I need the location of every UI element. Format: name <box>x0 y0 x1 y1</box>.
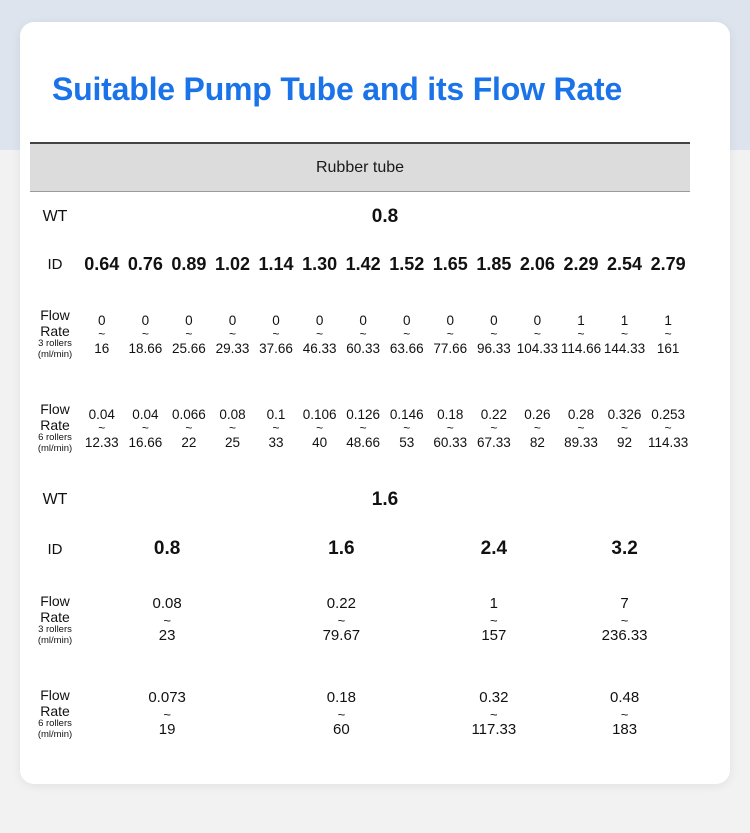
spec-card: Suitable Pump Tube and its Flow Rate Rub… <box>20 22 730 784</box>
range-separator: ~ <box>255 709 427 721</box>
range-separator: ~ <box>81 709 253 721</box>
table-flow-6rollers-row: FlowRate6 rollers(ml/min)0.04~12.330.04~… <box>30 381 690 475</box>
flow-label-line1: Flow <box>34 402 76 418</box>
id-value: 1.85 <box>472 241 516 287</box>
flow-6rollers-value: 0.073~19 <box>80 667 254 761</box>
id-value: 2.06 <box>516 241 560 287</box>
id-value: 0.64 <box>80 241 124 287</box>
id-value: 1.02 <box>211 241 255 287</box>
id-value: 1.6 <box>254 525 428 573</box>
flow-6rollers-value: 0.106~40 <box>298 381 342 475</box>
id-value: 3.2 <box>559 525 690 573</box>
range-separator: ~ <box>560 709 689 721</box>
wt-row-label: WT <box>30 475 80 525</box>
table-wt-row: WT1.6 <box>30 475 690 525</box>
range-separator: ~ <box>125 423 167 434</box>
id-value: 1.14 <box>254 241 298 287</box>
range-separator: ~ <box>168 423 210 434</box>
range-separator: ~ <box>255 329 297 340</box>
id-row-label: ID <box>30 525 80 573</box>
range-separator: ~ <box>212 423 254 434</box>
group-header-rubber-tube: Rubber tube <box>30 143 690 191</box>
flow-3rollers-value: 0~29.33 <box>211 287 255 381</box>
flow-3rollers-label: FlowRate3 rollers(ml/min) <box>30 573 80 667</box>
range-separator: ~ <box>560 615 689 627</box>
flow-6rollers-value: 0.28~89.33 <box>559 381 603 475</box>
flow-6rollers-value: 0.08~25 <box>211 381 255 475</box>
range-separator: ~ <box>386 329 428 340</box>
table-id-row: ID0.640.760.891.021.141.301.421.521.651.… <box>30 241 690 287</box>
flow-6rollers-value: 0.253~114.33 <box>646 381 690 475</box>
page-title: Suitable Pump Tube and its Flow Rate <box>20 22 730 108</box>
flow-3rollers-value: 0~77.66 <box>429 287 473 381</box>
table-flow-6rollers-row: FlowRate6 rollers(ml/min)0.073~190.18~60… <box>30 667 690 761</box>
table-id-row: ID0.81.62.43.2 <box>30 525 690 573</box>
flow-6rollers-value: 0.146~53 <box>385 381 429 475</box>
flow-3rollers-value: 0~63.66 <box>385 287 429 381</box>
range-separator: ~ <box>647 329 689 340</box>
range-separator: ~ <box>517 329 559 340</box>
range-separator: ~ <box>386 423 428 434</box>
table-wt-row: WT0.8 <box>30 191 690 241</box>
flow-3rollers-value: 1~157 <box>429 573 560 667</box>
flow-label-line2: Rate <box>34 610 76 626</box>
id-value: 2.4 <box>429 525 560 573</box>
flow-label-line1: Flow <box>34 688 76 704</box>
wt-value: 1.6 <box>80 475 690 525</box>
flow-3rollers-value: 1~114.66 <box>559 287 603 381</box>
flow-3rollers-value: 0~46.33 <box>298 287 342 381</box>
flow-label-line1: Flow <box>34 308 76 324</box>
table-flow-3rollers-row: FlowRate3 rollers(ml/min)0~160~18.660~25… <box>30 287 690 381</box>
range-separator: ~ <box>342 423 384 434</box>
flow-3rollers-value: 0~18.66 <box>124 287 168 381</box>
id-value: 0.8 <box>80 525 254 573</box>
flow-3rollers-value: 0.22~79.67 <box>254 573 428 667</box>
table-flow-3rollers-row: FlowRate3 rollers(ml/min)0.08~230.22~79.… <box>30 573 690 667</box>
range-separator: ~ <box>560 423 602 434</box>
range-separator: ~ <box>81 329 123 340</box>
flow-label-unit: (ml/min) <box>34 350 76 361</box>
range-separator: ~ <box>430 709 559 721</box>
flow-6rollers-value: 0.32~117.33 <box>429 667 560 761</box>
range-separator: ~ <box>212 329 254 340</box>
flow-6rollers-value: 0.126~48.66 <box>341 381 385 475</box>
id-value: 0.76 <box>124 241 168 287</box>
flow-6rollers-value: 0.18~60.33 <box>429 381 473 475</box>
range-separator: ~ <box>560 329 602 340</box>
flow-3rollers-value: 0~104.33 <box>516 287 560 381</box>
range-separator: ~ <box>430 615 559 627</box>
id-value: 2.29 <box>559 241 603 287</box>
wt-row-label: WT <box>30 191 80 241</box>
pump-tube-spec-table: Rubber tubeWT0.8ID0.640.760.891.021.141.… <box>30 142 690 761</box>
flow-label-unit: (ml/min) <box>34 730 76 741</box>
flow-3rollers-value: 0~16 <box>80 287 124 381</box>
range-separator: ~ <box>125 329 167 340</box>
range-separator: ~ <box>255 615 427 627</box>
id-value: 1.30 <box>298 241 342 287</box>
flow-6rollers-value: 0.326~92 <box>603 381 647 475</box>
range-separator: ~ <box>299 423 341 434</box>
range-separator: ~ <box>517 423 559 434</box>
range-separator: ~ <box>255 423 297 434</box>
flow-6rollers-value: 0.04~16.66 <box>124 381 168 475</box>
id-value: 1.42 <box>341 241 385 287</box>
flow-3rollers-value: 7~236.33 <box>559 573 690 667</box>
flow-6rollers-value: 0.48~183 <box>559 667 690 761</box>
flow-3rollers-value: 0.08~23 <box>80 573 254 667</box>
range-separator: ~ <box>342 329 384 340</box>
flow-label-line2: Rate <box>34 704 76 720</box>
id-value: 2.54 <box>603 241 647 287</box>
flow-3rollers-value: 0~25.66 <box>167 287 211 381</box>
flow-6rollers-value: 0.1~33 <box>254 381 298 475</box>
id-value: 1.52 <box>385 241 429 287</box>
id-value: 2.79 <box>646 241 690 287</box>
flow-6rollers-label: FlowRate6 rollers(ml/min) <box>30 381 80 475</box>
flow-3rollers-value: 1~161 <box>646 287 690 381</box>
flow-label-unit: (ml/min) <box>34 636 76 647</box>
flow-6rollers-value: 0.22~67.33 <box>472 381 516 475</box>
flow-6rollers-value: 0.066~22 <box>167 381 211 475</box>
flow-6rollers-value: 0.26~82 <box>516 381 560 475</box>
range-separator: ~ <box>299 329 341 340</box>
flow-label-line2: Rate <box>34 324 76 340</box>
flow-label-line1: Flow <box>34 594 76 610</box>
range-separator: ~ <box>473 423 515 434</box>
range-separator: ~ <box>647 423 689 434</box>
range-separator: ~ <box>430 329 472 340</box>
flow-6rollers-label: FlowRate6 rollers(ml/min) <box>30 667 80 761</box>
flow-3rollers-value: 0~60.33 <box>341 287 385 381</box>
flow-3rollers-label: FlowRate3 rollers(ml/min) <box>30 287 80 381</box>
range-separator: ~ <box>81 423 123 434</box>
wt-value: 0.8 <box>80 191 690 241</box>
id-value: 0.89 <box>167 241 211 287</box>
flow-3rollers-value: 0~37.66 <box>254 287 298 381</box>
flow-3rollers-value: 1~144.33 <box>603 287 647 381</box>
id-value: 1.65 <box>429 241 473 287</box>
table-group-header-row: Rubber tube <box>30 143 690 191</box>
range-separator: ~ <box>81 615 253 627</box>
range-separator: ~ <box>604 423 646 434</box>
range-separator: ~ <box>430 423 472 434</box>
flow-label-unit: (ml/min) <box>34 444 76 455</box>
range-separator: ~ <box>604 329 646 340</box>
range-separator: ~ <box>473 329 515 340</box>
id-row-label: ID <box>30 241 80 287</box>
flow-6rollers-value: 0.18~60 <box>254 667 428 761</box>
flow-6rollers-value: 0.04~12.33 <box>80 381 124 475</box>
flow-3rollers-value: 0~96.33 <box>472 287 516 381</box>
spec-table-wrap: Rubber tubeWT0.8ID0.640.760.891.021.141.… <box>20 108 730 761</box>
flow-label-line2: Rate <box>34 418 76 434</box>
range-separator: ~ <box>168 329 210 340</box>
